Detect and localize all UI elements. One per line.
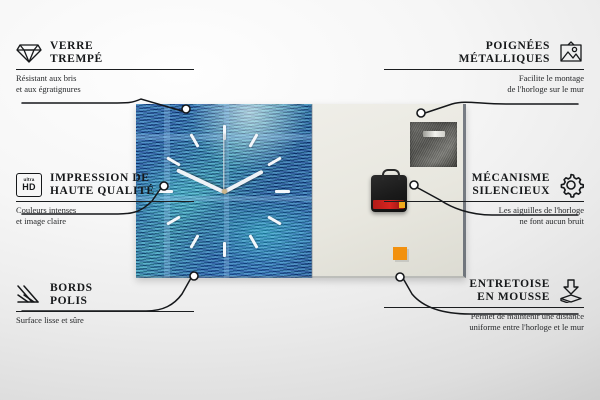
feature-description-line: uniforme entre l'horloge et le mur	[384, 322, 584, 333]
feature-title-line: MÉTALLIQUES	[459, 53, 550, 66]
diamond-icon	[16, 40, 42, 66]
feature-title-line: MÉCANISME	[472, 172, 550, 185]
feature-bords-polis: BORDS POLIS Surface lisse et sûre	[16, 282, 216, 326]
feature-title-line: POIGNÉES	[459, 40, 550, 53]
ultra-hd-large-text: HD	[22, 183, 35, 192]
feature-description-line: et aux égratignures	[16, 84, 216, 95]
feature-description-line: Les aiguilles de l'horloge	[384, 205, 584, 216]
feature-poignees-metalliques: POIGNÉES MÉTALLIQUES Facilite le montage…	[384, 40, 584, 95]
feature-title-line: HAUTE QUALITÉ	[50, 185, 155, 198]
feature-divider	[384, 201, 584, 202]
picture-frame-hook-icon	[558, 40, 584, 66]
feature-title-line: POLIS	[50, 295, 93, 308]
feature-title-line: ENTRETOISE	[469, 278, 550, 291]
feature-mecanisme-silencieux: MÉCANISME SILENCIEUX Les aiguilles de l'…	[384, 172, 584, 227]
feature-entretoise-en-mousse: ENTRETOISE EN MOUSSE Permet de maintenir…	[384, 278, 584, 333]
feature-description-line: Résistant aux bris	[16, 73, 216, 84]
feature-title-line: EN MOUSSE	[469, 291, 550, 304]
feature-description-line: ne font aucun bruit	[384, 216, 584, 227]
feature-divider	[16, 311, 194, 312]
polished-edge-icon	[16, 282, 42, 308]
product-infographic: VERRE TREMPÉ Résistant aux bris et aux é…	[0, 0, 600, 400]
feature-description-line: Couleurs intenses	[16, 205, 216, 216]
gear-icon	[558, 172, 584, 198]
feature-description-line: de l'horloge sur le mur	[384, 84, 584, 95]
ultra-hd-icon: ultra HD	[16, 172, 42, 198]
feature-divider	[384, 307, 584, 308]
feature-description-line: Surface lisse et sûre	[16, 315, 216, 326]
feature-description-line: Permet de maintenir une distance	[384, 311, 584, 322]
feature-title-line: TREMPÉ	[50, 53, 103, 66]
feature-title-line: BORDS	[50, 282, 93, 295]
feature-divider	[16, 69, 194, 70]
feature-description-line: et image claire	[16, 216, 216, 227]
feature-impression-haute-qualite: ultra HD IMPRESSION DE HAUTE QUALITÉ Cou…	[16, 172, 216, 227]
feature-title-line: VERRE	[50, 40, 103, 53]
feature-description-line: Facilite le montage	[384, 73, 584, 84]
foam-spacer-icon	[558, 278, 584, 304]
feature-title-line: IMPRESSION DE	[50, 172, 155, 185]
feature-title-line: SILENCIEUX	[472, 185, 550, 198]
feature-verre-trempe: VERRE TREMPÉ Résistant aux bris et aux é…	[16, 40, 216, 95]
feature-divider	[384, 69, 584, 70]
feature-divider	[16, 201, 194, 202]
